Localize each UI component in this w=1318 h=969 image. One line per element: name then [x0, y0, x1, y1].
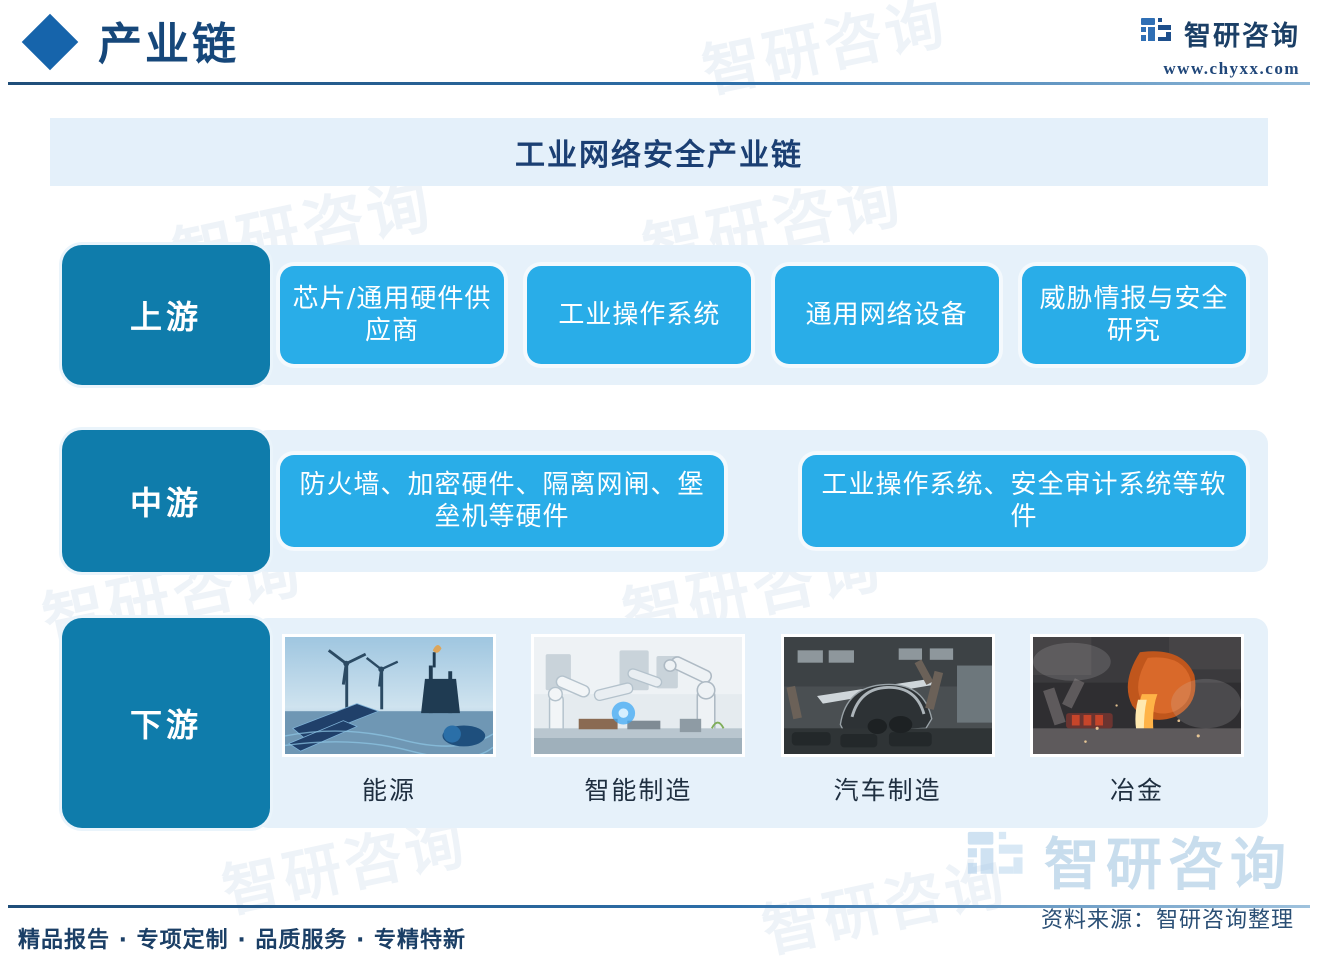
downstream-item[interactable]: 智能制造 [529, 634, 747, 807]
downstream-caption: 智能制造 [584, 771, 692, 807]
header-divider [8, 82, 1310, 85]
chain-item-chip[interactable]: 威胁情报与安全研究 [1022, 266, 1246, 364]
downstream-item[interactable]: 能源 [280, 634, 498, 807]
chain-item-chip[interactable]: 通用网络设备 [775, 266, 999, 364]
chyxx-logo-icon [1140, 17, 1174, 51]
page-title: 产业链 [98, 8, 239, 72]
chain-item-chip[interactable]: 工业操作系统、安全审计系统等软件 [802, 455, 1246, 547]
row-label-upstream: 上游 [62, 245, 270, 385]
chain-item-chip[interactable]: 工业操作系统 [527, 266, 751, 364]
row-body-downstream: 能源 [254, 618, 1268, 828]
chart-title-banner: 工业网络安全产业链 [50, 118, 1268, 186]
smart-manufacturing-photo [531, 634, 745, 757]
footer-source: 资料来源：智研咨询整理 [1041, 902, 1294, 934]
chyxx-logo-watermark-icon [966, 830, 1028, 892]
row-body-midstream: 防火墙、加密硬件、隔离网闸、堡垒机等硬件 工业操作系统、安全审计系统等软件 [254, 430, 1268, 572]
chain-row-upstream: 上游 芯片/通用硬件供应商 工业操作系统 通用网络设备 威胁情报与安全研究 [62, 245, 1268, 385]
downstream-item[interactable]: 汽车制造 [779, 634, 997, 807]
downstream-item[interactable]: 冶金 [1028, 634, 1246, 807]
page-header: Industrial Chain 产业链 智研咨询 www.chyxx.com [0, 0, 1318, 84]
footer-watermark: 智研咨询 [966, 820, 1292, 901]
automotive-manufacturing-photo [781, 634, 995, 757]
chart-title: 工业网络安全产业链 [515, 130, 803, 174]
brand-block: 智研咨询 www.chyxx.com [1140, 14, 1300, 79]
downstream-caption: 汽车制造 [834, 771, 942, 807]
chain-item-chip[interactable]: 芯片/通用硬件供应商 [280, 266, 504, 364]
downstream-caption: 冶金 [1110, 771, 1164, 807]
diamond-icon [22, 14, 79, 71]
row-label-downstream: 下游 [62, 618, 270, 828]
footer-watermark-text: 智研咨询 [1044, 820, 1292, 901]
footer-slogan: 精品报告 · 专项定制 · 品质服务 · 专精特新 [18, 922, 466, 954]
brand-url[interactable]: www.chyxx.com [1140, 59, 1300, 79]
chain-row-downstream: 下游 [62, 618, 1268, 828]
row-body-upstream: 芯片/通用硬件供应商 工业操作系统 通用网络设备 威胁情报与安全研究 [254, 245, 1268, 385]
metallurgy-photo [1030, 634, 1244, 757]
chain-item-chip[interactable]: 防火墙、加密硬件、隔离网闸、堡垒机等硬件 [280, 455, 724, 547]
row-label-midstream: 中游 [62, 430, 270, 572]
energy-photo [282, 634, 496, 757]
background-watermark: 智研咨询 [754, 835, 1014, 969]
downstream-caption: 能源 [362, 771, 416, 807]
brand-name: 智研咨询 [1184, 14, 1300, 53]
chain-row-midstream: 中游 防火墙、加密硬件、隔离网闸、堡垒机等硬件 工业操作系统、安全审计系统等软件 [62, 430, 1268, 572]
